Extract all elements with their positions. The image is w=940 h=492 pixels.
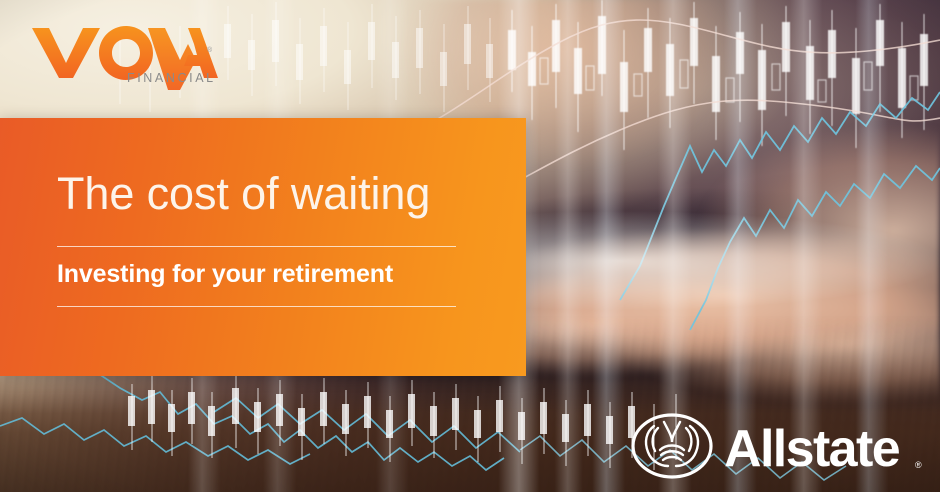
headline-banner: The cost of waiting Investing for your r…	[0, 118, 526, 376]
headline-banner-content: The cost of waiting Investing for your r…	[57, 170, 456, 307]
voya-financial-logo[interactable]: ® FINANCIAL	[28, 20, 218, 92]
voya-tagline-text: FINANCIAL	[127, 71, 216, 85]
voya-registered-mark: ®	[207, 46, 213, 54]
allstate-registered-mark: ®	[915, 460, 922, 470]
allstate-wordmark-text: Allstate	[724, 420, 900, 478]
banner-image: ® FINANCIAL The cost of waiting Investin…	[0, 0, 940, 492]
allstate-logo[interactable]: Allstate ®	[630, 408, 926, 484]
good-hands-icon-inner	[646, 422, 698, 466]
banner-headline: The cost of waiting	[57, 170, 456, 218]
banner-subheadline: Investing for your retirement	[57, 247, 456, 290]
banner-rule-bottom	[57, 306, 456, 307]
